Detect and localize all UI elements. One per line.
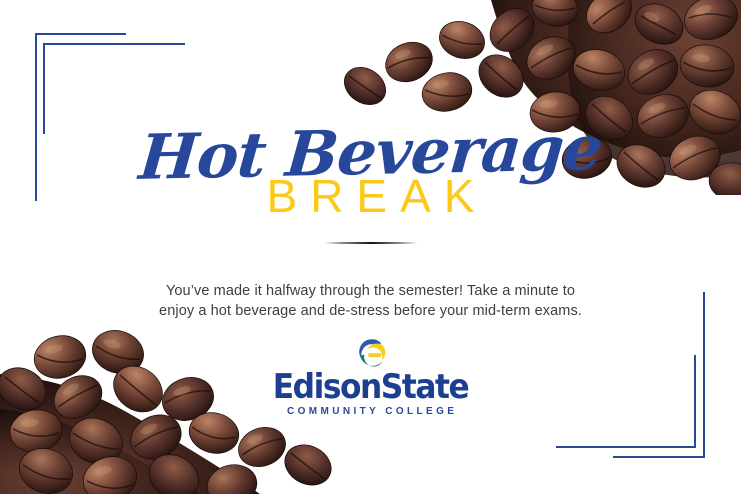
logo-wordmark: EdisonState <box>30 370 712 404</box>
bracket-br-outer-horizontal <box>613 456 705 458</box>
edison-state-logo: EdisonState COMMUNITY COLLEGE <box>0 338 741 417</box>
bracket-tl-inner-horizontal <box>43 43 185 45</box>
body-copy-line-1: You’ve made it halfway through the semes… <box>0 282 741 302</box>
body-copy: You’ve made it halfway through the semes… <box>0 282 741 321</box>
title-divider <box>325 242 417 244</box>
edison-e-swoosh-icon <box>351 338 391 368</box>
logo-tagline: COMMUNITY COLLEGE <box>0 407 741 417</box>
body-copy-line-2: enjoy a hot beverage and de-stress befor… <box>0 302 741 322</box>
poster-canvas: Hot Beverage BREAK You’ve made it halfwa… <box>0 0 741 494</box>
bracket-tl-outer-horizontal <box>35 33 126 35</box>
title-block: Hot Beverage BREAK <box>0 124 741 244</box>
bracket-tl-inner-vertical <box>43 43 45 134</box>
bracket-br-inner-horizontal <box>556 446 696 448</box>
